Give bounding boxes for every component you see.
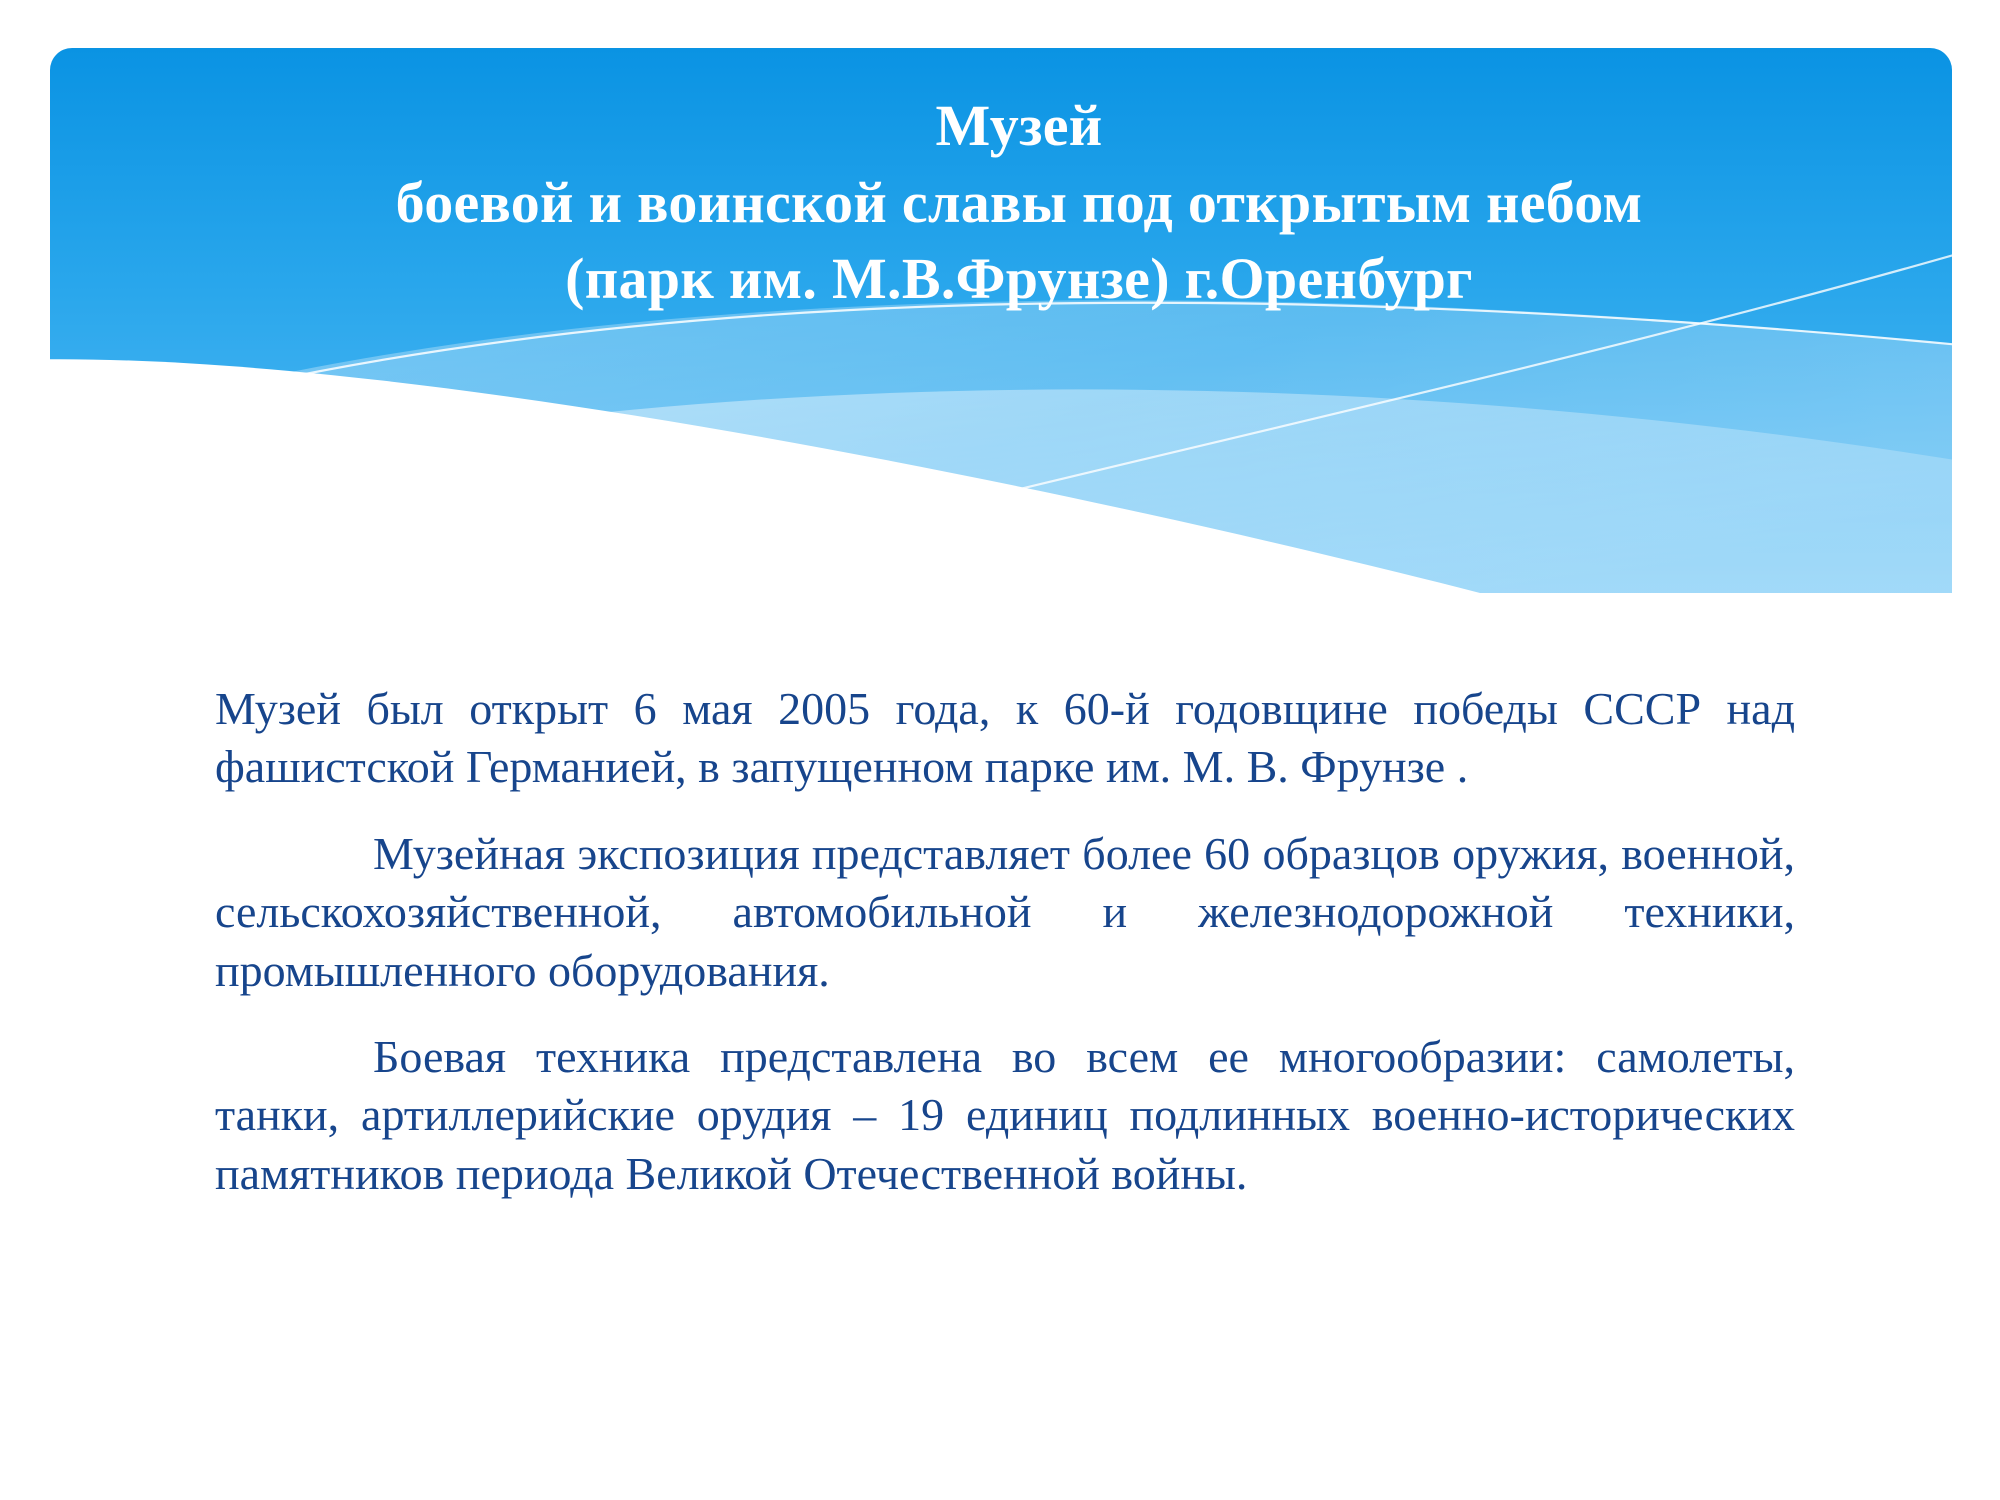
header-banner xyxy=(50,48,1952,593)
body-paragraph-1: Музей был открыт 6 мая 2005 года, к 60-й… xyxy=(215,680,1795,797)
header-wave-graphic xyxy=(50,48,1952,593)
body-paragraph-3: Боевая техника представлена во всем ее м… xyxy=(215,1028,1795,1203)
body-paragraph-2: Музейная экспозиция представляет более 6… xyxy=(215,825,1795,1000)
presentation-slide: Музей боевой и воинской славы под открыт… xyxy=(0,0,2000,1500)
slide-body: Музей был открыт 6 мая 2005 года, к 60-й… xyxy=(215,680,1795,1203)
